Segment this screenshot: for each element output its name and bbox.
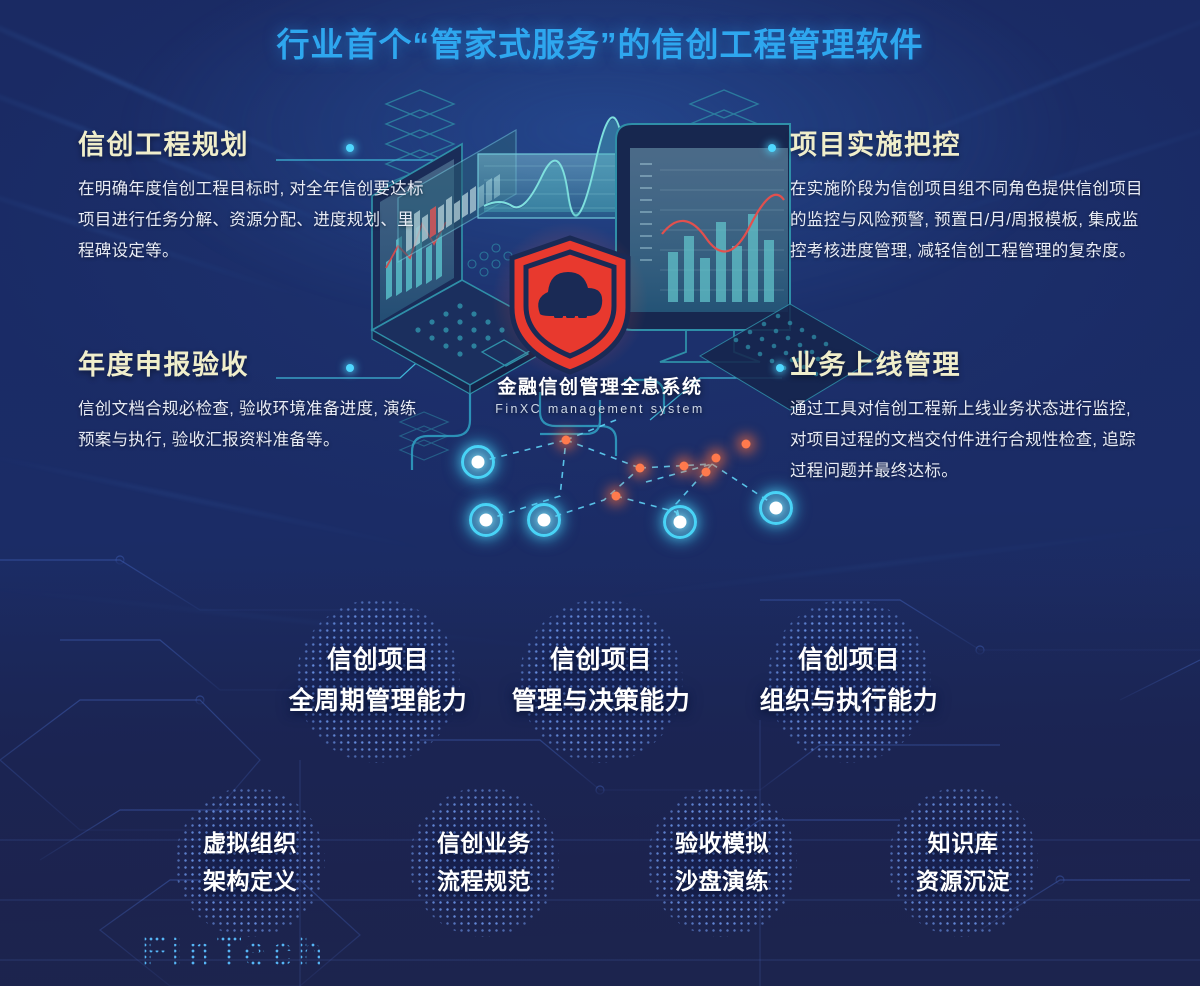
capability-sphere-business-process: 信创业务 流程规范	[437, 824, 531, 900]
glow-node	[469, 503, 503, 537]
system-name-en: FinXC management system	[0, 402, 1200, 416]
feature-body: 在明确年度信创工程目标时, 对全年信创要达标项目进行任务分解、资源分配、进度规划…	[78, 174, 428, 267]
capability-sphere-acceptance-sandbox: 验收模拟 沙盘演练	[675, 824, 769, 900]
system-name-cn: 金融信创管理全息系统	[0, 372, 1200, 399]
leader-dot-icon	[346, 364, 354, 372]
signal-dot	[702, 468, 711, 477]
capability-line2: 架构定义	[203, 862, 297, 900]
feature-heading: 信创工程规划	[78, 132, 428, 159]
signal-dot	[712, 454, 721, 463]
leader-dot-icon	[768, 144, 776, 152]
fintech-watermark: FinTech	[142, 930, 327, 975]
capability-line2: 组织与执行能力	[760, 681, 939, 722]
signal-dot	[742, 440, 751, 449]
signal-dot	[636, 464, 645, 473]
glow-node	[759, 491, 793, 525]
capability-line2: 流程规范	[437, 862, 531, 900]
capability-line1: 验收模拟	[675, 824, 769, 862]
capability-line1: 知识库	[916, 824, 1010, 862]
capability-sphere-organization-execution: 信创项目 组织与执行能力	[760, 640, 939, 722]
signal-dot	[562, 436, 571, 445]
glow-node	[527, 503, 561, 537]
leader-dot-icon	[776, 364, 784, 372]
capability-sphere-full-lifecycle: 信创项目 全周期管理能力	[289, 640, 468, 722]
capability-line1: 信创项目	[512, 640, 691, 681]
capability-line2: 全周期管理能力	[289, 681, 468, 722]
capability-sphere-knowledge-base: 知识库 资源沉淀	[916, 824, 1010, 900]
feature-body: 在实施阶段为信创项目组不同角色提供信创项目的监控与风险预警, 预置日/月/周报模…	[790, 174, 1145, 267]
capability-line2: 资源沉淀	[916, 862, 1010, 900]
page-title: 行业首个“管家式服务”的信创工程管理软件	[0, 18, 1200, 66]
system-brand: 金融信创管理全息系统 FinXC management system	[0, 372, 1200, 416]
glow-node	[461, 445, 495, 479]
feature-heading: 项目实施把控	[790, 132, 1145, 159]
dashed-signal-paths	[478, 420, 776, 522]
signal-dot	[680, 462, 689, 471]
capability-line1: 虚拟组织	[203, 824, 297, 862]
feature-block-project-implementation-control: 项目实施把控 在实施阶段为信创项目组不同角色提供信创项目的监控与风险预警, 预置…	[790, 132, 1145, 267]
capability-line2: 管理与决策能力	[512, 681, 691, 722]
capability-line1: 信创项目	[760, 640, 939, 681]
signal-dot	[612, 492, 621, 501]
capability-sphere-virtual-org: 虚拟组织 架构定义	[203, 824, 297, 900]
capability-sphere-management-decision: 信创项目 管理与决策能力	[512, 640, 691, 722]
capability-line1: 信创业务	[437, 824, 531, 862]
leader-dot-icon	[346, 144, 354, 152]
glow-node	[663, 505, 697, 539]
capability-line1: 信创项目	[289, 640, 468, 681]
capability-line2: 沙盘演练	[675, 862, 769, 900]
feature-block-xinchuang-planning: 信创工程规划 在明确年度信创工程目标时, 对全年信创要达标项目进行任务分解、资源…	[78, 132, 428, 267]
infographic-canvas: 行业首个“管家式服务”的信创工程管理软件 信创工程规划 在明确年度信创工程目标时…	[0, 0, 1200, 986]
